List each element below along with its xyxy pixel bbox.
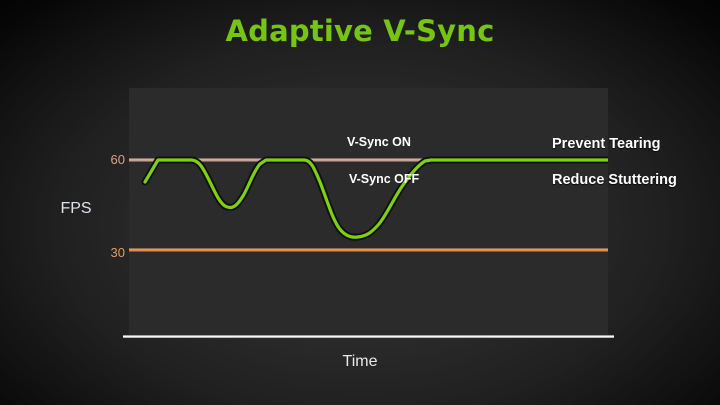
- y-axis-tick-30: 30: [85, 245, 125, 260]
- y-axis-tick-60: 60: [85, 152, 125, 167]
- slide-canvas: Adaptive V-Sync V-Sync ON V-Sync OFF Pre…: [0, 0, 720, 405]
- x-axis-label: Time: [0, 353, 720, 371]
- page-title: Adaptive V-Sync: [0, 14, 720, 48]
- x-axis-line: [123, 335, 614, 338]
- y-axis-label: FPS: [36, 200, 116, 218]
- callout-reduce-stuttering: Reduce Stuttering: [552, 172, 677, 188]
- callout-prevent-tearing: Prevent Tearing: [552, 136, 661, 152]
- annotation-vsync-on: V-Sync ON: [347, 135, 411, 149]
- fps-chart-svg: [129, 88, 608, 336]
- chart-plot-area: [129, 88, 608, 336]
- annotation-vsync-off: V-Sync OFF: [349, 172, 419, 186]
